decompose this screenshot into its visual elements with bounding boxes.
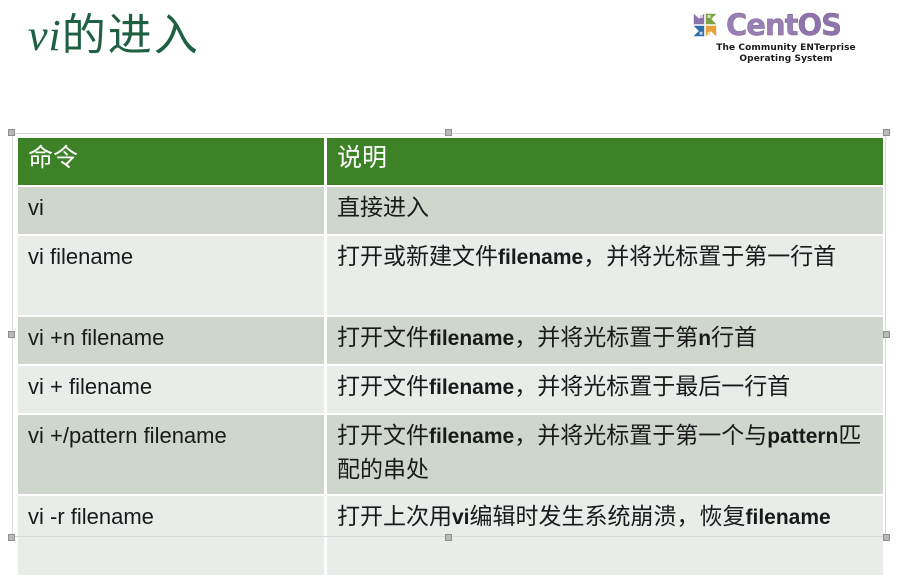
description-text: 直接进入 — [337, 195, 429, 220]
column-header-command: 命令 — [18, 138, 324, 185]
command-table-container[interactable]: 命令 说明 vi直接进入vi filename打开或新建文件filename，并… — [12, 133, 886, 537]
description-code-token: filename — [429, 327, 514, 350]
table-row[interactable]: vi filename打开或新建文件filename，并将光标置于第一行首 — [18, 236, 883, 315]
resize-handle-bottom-center[interactable] — [445, 534, 452, 541]
description-code-token: n — [698, 327, 711, 350]
cell-command[interactable]: vi +/pattern filename — [18, 415, 324, 494]
description-text: ，并将光标置于第一个与 — [514, 423, 767, 448]
table-row[interactable]: vi + filename打开文件filename，并将光标置于最后一行首 — [18, 366, 883, 413]
centos-wordmark-os: OS — [797, 8, 841, 42]
centos-wordmark: CentOS — [726, 10, 841, 40]
cell-command[interactable]: vi filename — [18, 236, 324, 315]
page-title-han: 的进入 — [62, 11, 200, 60]
table-header-row: 命令 说明 — [18, 138, 883, 185]
description-text: ，并将光标置于最后一行首 — [514, 374, 790, 399]
cell-description[interactable]: 打开文件filename，并将光标置于第n行首 — [327, 317, 883, 364]
resize-handle-top-left[interactable] — [8, 129, 15, 136]
description-text: 打开上次用 — [337, 504, 452, 529]
centos-tagline: The Community ENTerprise Operating Syste… — [688, 43, 884, 65]
page-title-latin: vi — [28, 11, 62, 60]
description-text: 行首 — [711, 325, 757, 350]
centos-wordmark-cent: Cent — [726, 8, 797, 42]
resize-handle-top-center[interactable] — [445, 129, 452, 136]
description-code-token: vi — [452, 506, 470, 529]
description-text: 打开或新建文件 — [337, 244, 498, 269]
cell-command[interactable]: vi -r filename — [18, 496, 324, 575]
table-body: vi直接进入vi filename打开或新建文件filename，并将光标置于第… — [18, 187, 883, 575]
centos-pinwheel-icon — [688, 8, 722, 42]
description-text: 打开文件 — [337, 325, 429, 350]
centos-tagline-line1: The Community ENTerprise — [688, 43, 884, 54]
column-header-description: 说明 — [327, 138, 883, 185]
description-text: 打开文件 — [337, 374, 429, 399]
cell-description[interactable]: 打开或新建文件filename，并将光标置于第一行首 — [327, 236, 883, 315]
resize-handle-bottom-right[interactable] — [883, 534, 890, 541]
cell-command[interactable]: vi + filename — [18, 366, 324, 413]
cell-description[interactable]: 打开文件filename，并将光标置于最后一行首 — [327, 366, 883, 413]
cell-description[interactable]: 打开上次用vi编辑时发生系统崩溃，恢复filename — [327, 496, 883, 575]
description-text: ，并将光标置于第一行首 — [583, 244, 836, 269]
cell-description[interactable]: 直接进入 — [327, 187, 883, 234]
centos-logo: CentOS The Community ENTerprise Operatin… — [688, 8, 888, 62]
description-code-token: pattern — [767, 425, 838, 448]
resize-handle-bottom-left[interactable] — [8, 534, 15, 541]
description-text: 打开文件 — [337, 423, 429, 448]
resize-handle-middle-right[interactable] — [883, 331, 890, 338]
description-code-token: filename — [429, 376, 514, 399]
cell-command[interactable]: vi +n filename — [18, 317, 324, 364]
page-title: vi的进入 — [28, 8, 200, 64]
description-code-token: filename — [429, 425, 514, 448]
centos-tagline-line2: Operating System — [688, 54, 884, 65]
description-text: ，并将光标置于第 — [514, 325, 698, 350]
description-code-token: filename — [746, 506, 831, 529]
cell-description[interactable]: 打开文件filename，并将光标置于第一个与pattern匹配的串处 — [327, 415, 883, 494]
resize-handle-middle-left[interactable] — [8, 331, 15, 338]
table-row[interactable]: vi +/pattern filename打开文件filename，并将光标置于… — [18, 415, 883, 494]
resize-handle-top-right[interactable] — [883, 129, 890, 136]
table-row[interactable]: vi直接进入 — [18, 187, 883, 234]
command-table[interactable]: 命令 说明 vi直接进入vi filename打开或新建文件filename，并… — [15, 136, 886, 577]
description-code-token: filename — [498, 246, 583, 269]
table-row[interactable]: vi +n filename打开文件filename，并将光标置于第n行首 — [18, 317, 883, 364]
description-text: 编辑时发生系统崩溃，恢复 — [470, 504, 746, 529]
cell-command[interactable]: vi — [18, 187, 324, 234]
